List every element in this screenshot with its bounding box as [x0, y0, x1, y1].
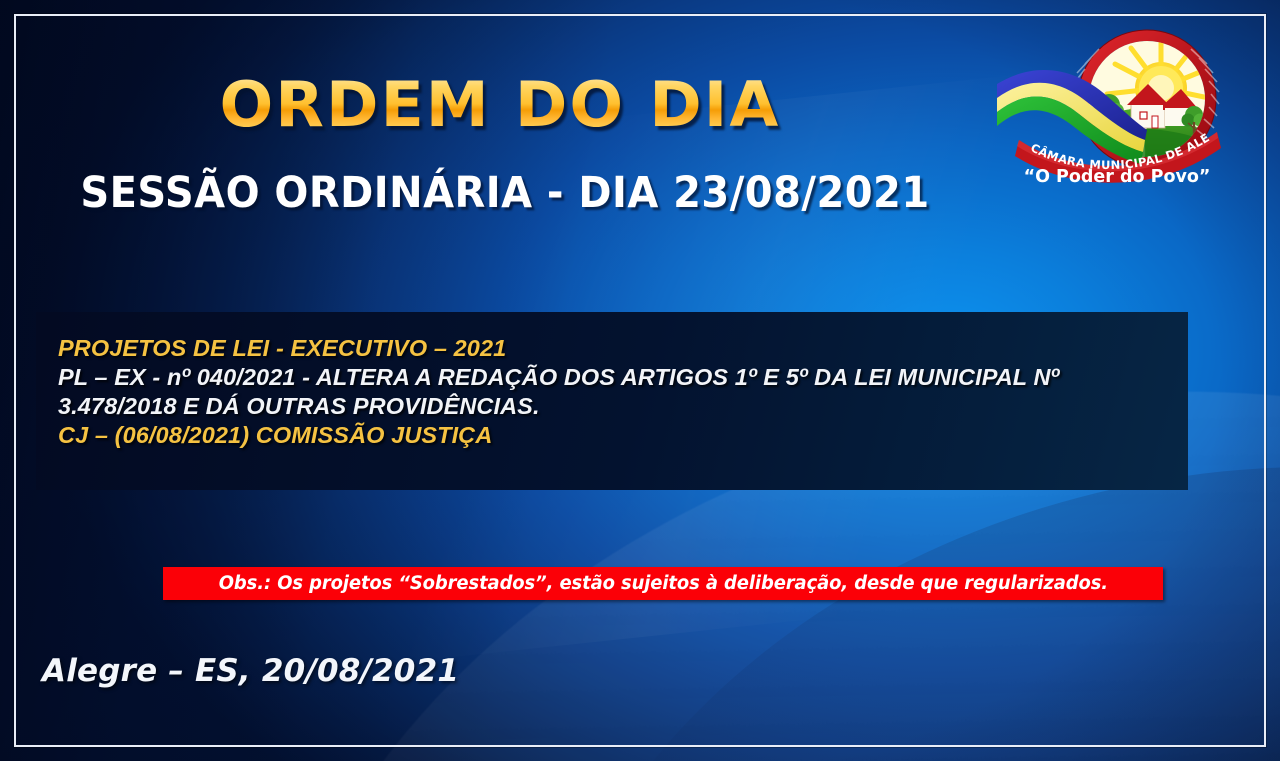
agenda-line-2: 3.478/2018 E DÁ OUTRAS PROVIDÊNCIAS. — [58, 392, 1188, 421]
notice-text: Obs.: Os projetos “Sobrestados”, estão s… — [218, 573, 1107, 594]
page-title: ORDEM DO DIA — [220, 74, 781, 136]
agenda-panel: PROJETOS DE LEI - EXECUTIVO – 2021 PL – … — [36, 312, 1188, 490]
page-subtitle: SESSÃO ORDINÁRIA - DIA 23/08/2021 — [35, 168, 974, 218]
title-block: ORDEM DO DIA — [0, 74, 1000, 136]
slide-canvas: ORDEM DO DIA SESSÃO ORDINÁRIA - DIA 23/0… — [0, 0, 1280, 761]
camara-logo: CÂMARA MUNICIPAL DE ALEGRE - ES “O Poder… — [995, 22, 1245, 207]
agenda-heading: PROJETOS DE LEI - EXECUTIVO – 2021 — [58, 334, 1188, 363]
agenda-committee: CJ – (06/08/2021) COMISSÃO JUSTIÇA — [58, 421, 1188, 450]
footer-location-date: Alegre – ES, 20/08/2021 — [42, 653, 459, 689]
agenda-line-1: PL – EX - nº 040/2021 - ALTERA A REDAÇÃO… — [58, 363, 1188, 392]
status-badge: Obs.: Os projetos “Sobrestados”, estão s… — [163, 567, 1163, 600]
emblem-motto: “O Poder do Povo” — [1024, 167, 1211, 187]
